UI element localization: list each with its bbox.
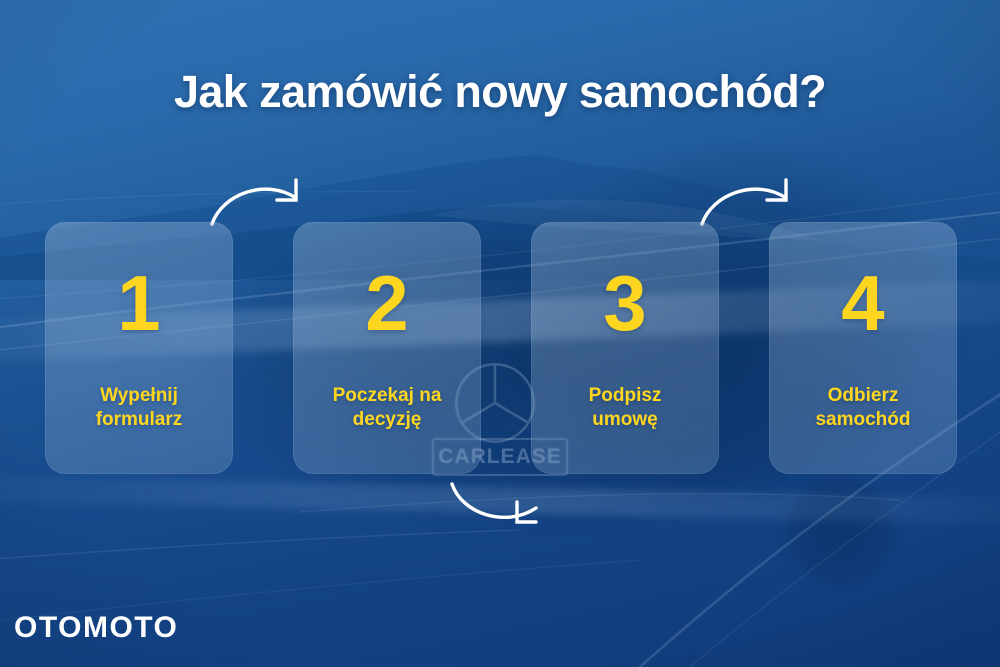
step-number-2: 2 (365, 264, 408, 342)
step-label-1-line1: Wypełnij (100, 385, 178, 406)
step-card-4[interactable]: 4 Odbierz samochód (769, 222, 957, 474)
step-number-3: 3 (603, 264, 646, 342)
step-label-1: Wypełnij formularz (88, 384, 191, 433)
step-card-3[interactable]: 3 Podpisz umowę (531, 222, 719, 474)
step-label-1-line2: formularz (96, 409, 183, 430)
step-label-2: Poczekaj na decyzję (325, 384, 450, 433)
step-label-3-line2: umowę (592, 409, 657, 430)
step-card-1[interactable]: 1 Wypełnij formularz (45, 222, 233, 474)
step-label-2-line2: decyzję (353, 409, 422, 430)
step-label-4-line2: samochód (815, 409, 910, 430)
step-label-2-line1: Poczekaj na (333, 385, 442, 406)
otomoto-logo-text: OTOMOTO (14, 611, 178, 645)
step-card-2[interactable]: 2 Poczekaj na decyzję (293, 222, 481, 474)
step-label-4-line1: Odbierz (828, 385, 899, 406)
step-number-1: 1 (117, 264, 160, 342)
step-label-3-line1: Podpisz (589, 385, 662, 406)
otomoto-logo[interactable]: OTOMOTO (14, 611, 178, 645)
step-label-4: Odbierz samochód (807, 384, 918, 433)
page-title: Jak zamówić nowy samochód? (0, 66, 1000, 118)
step-label-3: Podpisz umowę (581, 384, 670, 433)
promo-banner: CARLEASE Jak zamówić nowy samochód? 1 Wy… (0, 0, 1000, 667)
step-number-4: 4 (841, 264, 884, 342)
